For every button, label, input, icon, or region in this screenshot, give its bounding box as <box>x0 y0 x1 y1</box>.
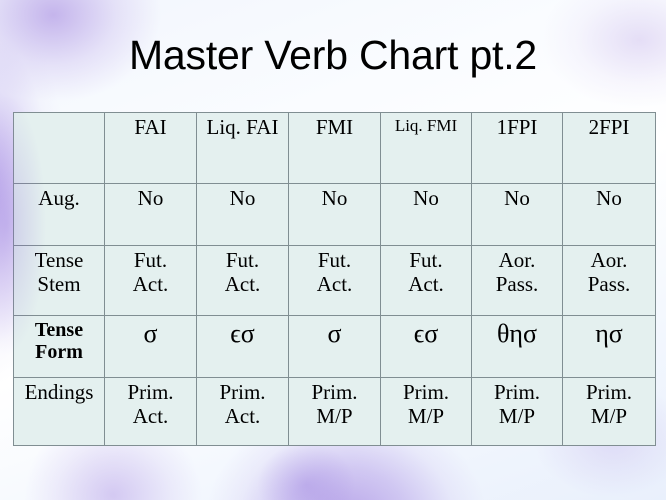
table-header-row: FAI Liq. FAI FMI Liq. FMI 1FPI 2FPI <box>14 113 656 184</box>
cell-line2: Act. <box>199 405 286 429</box>
cell-line2: Act. <box>107 405 194 429</box>
cell-line1: No <box>199 187 286 211</box>
column-header-fai: FAI <box>105 113 197 184</box>
table-row: Tense Stem Fut. Act. Fut. Act. Fut. Act. <box>14 246 656 316</box>
cell-form-liq-fmi: ϵσ <box>381 316 472 378</box>
cell-aug-fmi: No <box>289 184 381 246</box>
cell-line1: Prim. <box>474 381 560 405</box>
row-label-line1: Tense <box>16 319 102 341</box>
master-verb-chart-table: FAI Liq. FAI FMI Liq. FMI 1FPI 2FPI Aug.… <box>13 112 656 446</box>
column-header-1fpi: 1FPI <box>472 113 563 184</box>
row-label-tense-form: Tense Form <box>14 316 105 378</box>
cell-stem-liq-fai: Fut. Act. <box>197 246 289 316</box>
cell-line2: Pass. <box>565 273 653 297</box>
cell-form-1fpi: θησ <box>472 316 563 378</box>
cell-aug-liq-fmi: No <box>381 184 472 246</box>
row-label-line2: Stem <box>16 273 102 297</box>
cell-line1: Prim. <box>565 381 653 405</box>
cell-line1: No <box>107 187 194 211</box>
cell-line1: Prim. <box>107 381 194 405</box>
cell-aug-fai: No <box>105 184 197 246</box>
cell-aug-1fpi: No <box>472 184 563 246</box>
cell-line2: M/P <box>291 405 378 429</box>
row-label-aug: Aug. <box>14 184 105 246</box>
row-label-line2: Form <box>16 341 102 363</box>
cell-line1: Fut. <box>383 249 469 273</box>
cell-stem-1fpi: Aor. Pass. <box>472 246 563 316</box>
cell-form-fai: σ <box>105 316 197 378</box>
cell-line1: Prim. <box>291 381 378 405</box>
cell-line1: σ <box>291 319 378 348</box>
cell-line1: Aor. <box>474 249 560 273</box>
slide-canvas: Master Verb Chart pt.2 FAI Liq. FAI FMI … <box>0 0 666 500</box>
cell-endings-liq-fai: Prim. Act. <box>197 378 289 446</box>
cell-line1: Fut. <box>199 249 286 273</box>
cell-line2: M/P <box>565 405 653 429</box>
cell-line1: No <box>565 187 653 211</box>
cell-form-fmi: σ <box>289 316 381 378</box>
cell-line1: ησ <box>565 319 653 348</box>
column-header-liq-fmi: Liq. FMI <box>381 113 472 184</box>
cell-endings-fmi: Prim. M/P <box>289 378 381 446</box>
cell-endings-liq-fmi: Prim. M/P <box>381 378 472 446</box>
cell-line1: Fut. <box>291 249 378 273</box>
cell-form-2fpi: ησ <box>563 316 656 378</box>
cell-line1: Prim. <box>383 381 469 405</box>
cell-line2: Act. <box>291 273 378 297</box>
cell-endings-2fpi: Prim. M/P <box>563 378 656 446</box>
verb-chart-container: FAI Liq. FAI FMI Liq. FMI 1FPI 2FPI Aug.… <box>13 112 655 446</box>
cell-endings-fai: Prim. Act. <box>105 378 197 446</box>
cell-line2: Act. <box>199 273 286 297</box>
column-header-liq-fai: Liq. FAI <box>197 113 289 184</box>
cell-line2: Pass. <box>474 273 560 297</box>
table-row: Tense Form σ ϵσ σ ϵσ <box>14 316 656 378</box>
cell-line2: Act. <box>107 273 194 297</box>
cell-line1: ϵσ <box>383 319 469 348</box>
column-header-2fpi: 2FPI <box>563 113 656 184</box>
cell-line2: M/P <box>474 405 560 429</box>
cell-line2: M/P <box>383 405 469 429</box>
row-label-endings: Endings <box>14 378 105 446</box>
row-label-line1: Endings <box>16 381 102 405</box>
table-row: Endings Prim. Act. Prim. Act. Prim. M/P <box>14 378 656 446</box>
page-title: Master Verb Chart pt.2 <box>0 34 666 77</box>
column-header-fmi: FMI <box>289 113 381 184</box>
cell-stem-fmi: Fut. Act. <box>289 246 381 316</box>
cell-endings-1fpi: Prim. M/P <box>472 378 563 446</box>
cell-stem-fai: Fut. Act. <box>105 246 197 316</box>
cell-line1: No <box>474 187 560 211</box>
table-row: Aug. No No No No No <box>14 184 656 246</box>
header-corner-cell <box>14 113 105 184</box>
cell-form-liq-fai: ϵσ <box>197 316 289 378</box>
cell-line1: No <box>383 187 469 211</box>
cell-line1: Prim. <box>199 381 286 405</box>
cell-line1: No <box>291 187 378 211</box>
cell-aug-2fpi: No <box>563 184 656 246</box>
cell-stem-liq-fmi: Fut. Act. <box>381 246 472 316</box>
cell-aug-liq-fai: No <box>197 184 289 246</box>
cell-stem-2fpi: Aor. Pass. <box>563 246 656 316</box>
cell-line2: Act. <box>383 273 469 297</box>
cell-line1: Aor. <box>565 249 653 273</box>
cell-line1: Fut. <box>107 249 194 273</box>
row-label-tense-stem: Tense Stem <box>14 246 105 316</box>
row-label-line1: Tense <box>16 249 102 273</box>
cell-line1: ϵσ <box>199 319 286 348</box>
row-label-line1: Aug. <box>16 187 102 211</box>
cell-line1: σ <box>107 319 194 348</box>
cell-line1: θησ <box>474 319 560 348</box>
